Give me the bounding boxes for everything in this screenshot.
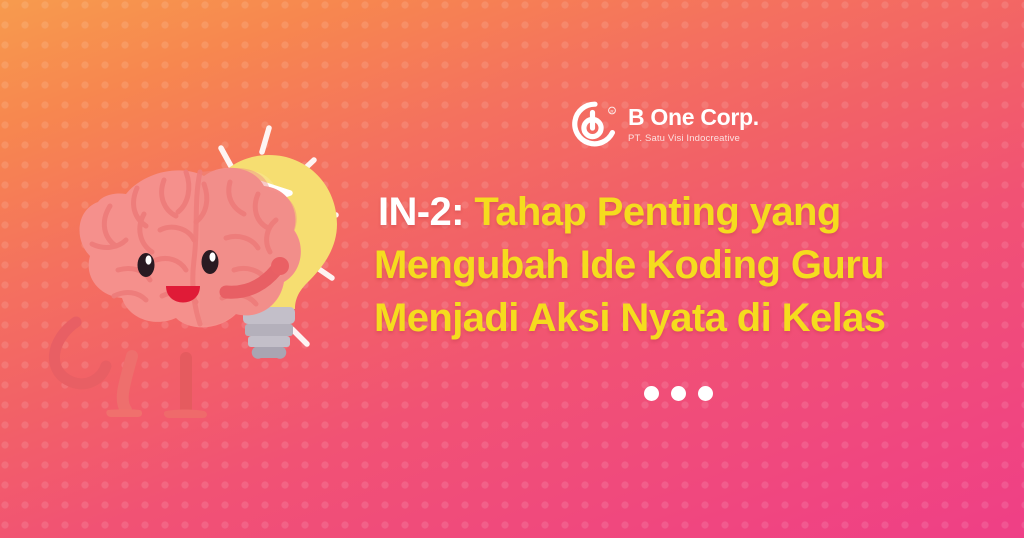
brand-name: B One Corp. [628, 106, 759, 129]
ellipsis-dot [644, 386, 659, 401]
ellipsis-indicator [644, 386, 713, 401]
brain-left-arm-icon [54, 322, 106, 384]
page-title: IN-2: Tahap Penting yang Mengubah Ide Ko… [378, 186, 978, 346]
b-one-circle-logo-icon: R [572, 101, 618, 147]
ellipsis-dot [698, 386, 713, 401]
brain-legs-icon [106, 356, 207, 418]
title-line-3: Menjadi Aksi Nyata di Kelas [374, 292, 978, 345]
registered-trademark-icon: R [609, 107, 616, 114]
brand-tagline: PT. Satu Visi Indocreative [628, 134, 759, 144]
title-line-1: Tahap Penting yang [474, 190, 840, 234]
brand-logo-lockup: R B One Corp. PT. Satu Visi Indocreative [572, 101, 759, 147]
brain-lightbulb-illustration [14, 110, 344, 440]
promo-banner: R B One Corp. PT. Satu Visi Indocreative… [0, 0, 1024, 538]
ellipsis-dot [671, 386, 686, 401]
title-prefix: IN-2: [378, 190, 474, 234]
brain-body-icon [80, 168, 301, 328]
title-line-2: Mengubah Ide Koding Guru [374, 239, 978, 292]
